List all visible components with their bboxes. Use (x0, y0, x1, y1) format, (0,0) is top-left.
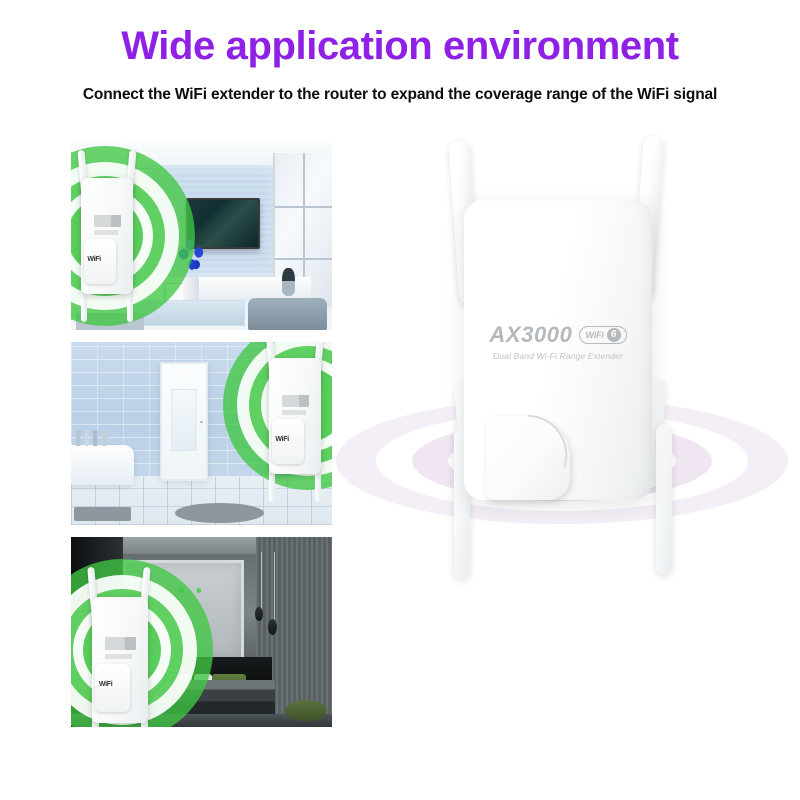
bath-bathtub (71, 445, 134, 485)
scene-living-room: WiFi (71, 142, 332, 330)
mini-model-text (105, 637, 135, 650)
mini-tagline-text (105, 654, 132, 659)
wifi6-badge: WiFi 6 (579, 326, 626, 344)
bed-pendant-lamp (268, 619, 277, 635)
product-marketing-page: Wide application environment Connect the… (0, 0, 800, 800)
mini-extender-living: WiFi (71, 150, 145, 322)
bath-door (160, 362, 208, 481)
scene-bedroom: WiFi (71, 537, 332, 727)
bath-door-handle (200, 421, 202, 424)
bath-door-glass (171, 389, 196, 451)
living-sofa (248, 298, 326, 330)
page-subtitle: Connect the WiFi extender to the router … (0, 86, 800, 105)
page-title: Wide application environment (0, 26, 800, 66)
mini-wifi-label: WiFi (275, 436, 289, 443)
living-flower-arrangement (175, 240, 209, 281)
mini-wifi-label: WiFi (87, 256, 101, 263)
living-floor-lamp (282, 268, 295, 296)
hero-stand-leg-right (656, 424, 672, 574)
wifi-generation-label: 6 (607, 328, 621, 342)
living-coffee-table (128, 300, 245, 326)
hero-model-name: AX3000 (489, 322, 572, 348)
mini-model-text (282, 395, 310, 407)
hero-product: AX3000 WiFi 6 Dual Band Wi-Fi Range Exte… (336, 128, 788, 628)
hero-branding: AX3000 WiFi 6 Dual Band Wi-Fi Range Exte… (464, 322, 652, 361)
bed-pendant-cord (274, 552, 275, 620)
mini-wifi-badge: WiFi (84, 239, 116, 284)
bath-mat-rect (74, 507, 131, 522)
mini-tagline-text (94, 230, 119, 235)
hero-tagline: Dual Band Wi-Fi Range Extender (464, 351, 652, 361)
bed-pendant-cord (261, 552, 262, 609)
mini-wifi-label: WiFi (99, 681, 113, 688)
wifi-badge-label: WiFi (585, 330, 603, 340)
mini-tagline-text (282, 410, 307, 415)
mini-model-text (94, 215, 122, 227)
mini-wifi-badge: WiFi (95, 664, 129, 712)
mini-extender-bed: WiFi (79, 567, 161, 727)
mini-extender-bath: WiFi (257, 342, 332, 502)
bath-toiletries (76, 430, 113, 446)
scene-bathroom: WiFi (71, 342, 332, 525)
mini-wifi-badge: WiFi (272, 419, 304, 464)
